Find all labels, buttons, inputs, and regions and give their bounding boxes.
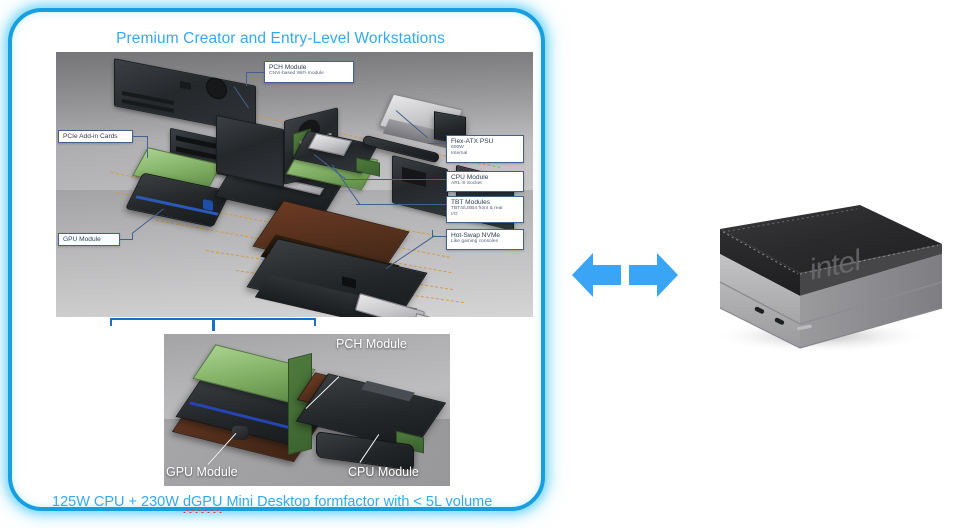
callout-subtitle-2: Internal — [451, 151, 519, 156]
lower-label-cpu: CPU Module — [348, 465, 419, 479]
callout-cpu-module: CPU Module ARL-S Socket — [446, 171, 524, 192]
callout-leader — [133, 136, 147, 137]
callout-leader — [132, 233, 133, 240]
bracket-center-tick — [212, 318, 215, 331]
callout-leader — [428, 143, 446, 144]
callout-leader — [147, 136, 148, 158]
highlight-panel: Premium Creator and Entry-Level Workstat… — [8, 8, 545, 511]
callout-hot-swap-nvme: Hot-Swap NVMe Like gaming consoles — [446, 229, 524, 250]
intel-mini-desktop-photo: intel — [692, 196, 954, 356]
callout-leader — [120, 239, 132, 240]
slide-canvas: Premium Creator and Entry-Level Workstat… — [0, 0, 967, 528]
left-arrow-icon — [572, 253, 621, 297]
callout-subtitle: ARL-S Socket — [451, 181, 519, 186]
callout-tbt-modules: TBT Modules TBT4/USB4 front & rear I/O — [446, 196, 524, 223]
gpu-connector — [203, 199, 213, 211]
lower-label-pch: PCH Module — [336, 337, 407, 351]
callout-subtitle: Like gaming consoles — [451, 239, 519, 244]
grouping-bracket — [110, 318, 316, 334]
callout-leader — [356, 204, 446, 205]
callout-title: PCIe Add-in Cards — [63, 133, 128, 140]
callout-flex-atx-psu: Flex-ATX PSU 600W Internal — [446, 135, 524, 163]
caption-part-2: Mini Desktop formfactor with < 5L volume — [222, 494, 492, 510]
callout-leader — [344, 179, 446, 180]
lower-label-gpu: GPU Module — [166, 465, 238, 479]
assembled-view-image: PCH Module GPU Module CPU Module — [164, 334, 450, 486]
callout-gpu-module: GPU Module — [58, 233, 120, 246]
callout-leader — [246, 72, 247, 86]
bidirectional-arrow — [572, 247, 678, 303]
panel-caption: 125W CPU + 230W dGPU Mini Desktop formfa… — [52, 494, 492, 510]
bracket-right-tick — [314, 318, 316, 326]
caption-misspelled-word: dGPU — [183, 494, 223, 510]
callout-leader — [246, 72, 264, 73]
caption-part-1: 125W CPU + 230W — [52, 494, 183, 510]
page-title: Premium Creator and Entry-Level Workstat… — [24, 30, 537, 48]
callout-subtitle: CNVi-based WiFi module — [269, 71, 349, 76]
right-arrow-icon — [629, 253, 678, 297]
callout-pch-module: PCH Module CNVi-based WiFi module — [264, 61, 354, 83]
callout-subtitle-2: I/O — [451, 212, 519, 217]
callout-title: GPU Module — [63, 236, 115, 243]
bracket-left-tick — [110, 318, 112, 326]
exploded-view-image: PCH Module CNVi-based WiFi module PCIe A… — [56, 52, 533, 317]
callout-pcie-addin-cards: PCIe Add-in Cards — [58, 130, 133, 143]
